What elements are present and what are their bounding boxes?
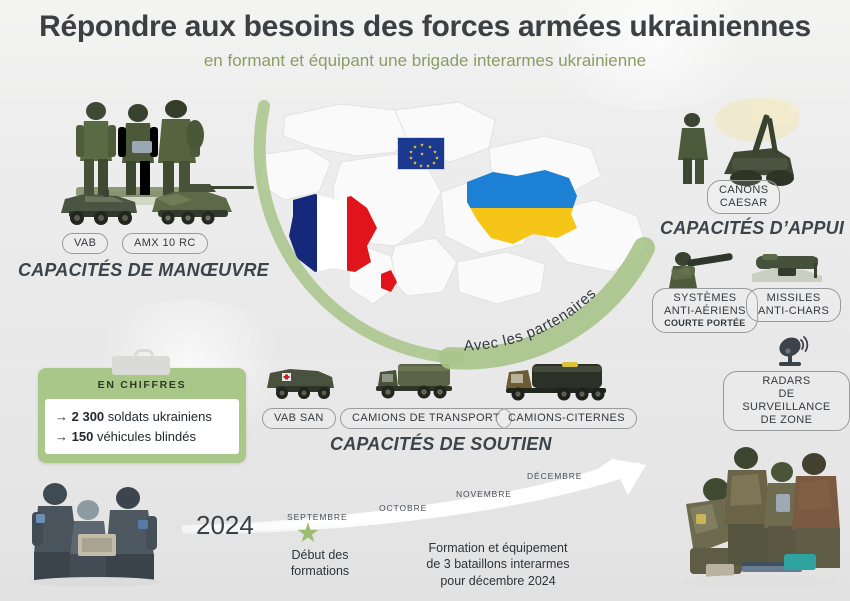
chiffres-row: → 150 véhicules blindés xyxy=(55,427,229,447)
label-systemes-anti-aeriens: SYSTÈMES ANTI-AÉRIENS COURTE PORTÉE xyxy=(652,288,758,333)
tank-icon xyxy=(148,178,256,228)
heading-capacites-appui: CAPACITÉS D’APPUI xyxy=(660,218,844,239)
label-aa-line3: COURTE PORTÉE xyxy=(664,318,746,329)
antitank-missile-icon xyxy=(748,248,833,290)
timeline-caption-start: Début des formations xyxy=(265,548,375,579)
label-canons-caesar: CANONS CAESAR xyxy=(707,180,780,214)
label-at-line2: ANTI-CHARS xyxy=(758,305,829,317)
chiffres-value: 2 300 xyxy=(72,409,105,424)
timeline-month-septembre: SEPTEMBRE xyxy=(287,512,348,522)
page-subtitle: en formant et équipant une brigade inter… xyxy=(0,51,850,71)
page-title: Répondre aux besoins des forces armées u… xyxy=(0,10,850,43)
poster-header: Répondre aux besoins des forces armées u… xyxy=(0,10,850,71)
ambulance-vehicle-icon xyxy=(262,362,340,402)
clipboard-clip-icon xyxy=(112,356,170,375)
timeline-month-decembre: DÉCEMBRE xyxy=(527,471,582,481)
timeline-section: 2024 SEPTEMBRE OCTOBRE NOVEMBRE DÉCEMBRE… xyxy=(0,455,850,601)
europe-landmass-svg xyxy=(245,96,655,356)
chiffres-row: → 2 300 soldats ukrainiens xyxy=(55,407,229,427)
chiffres-value: 150 xyxy=(72,429,94,444)
label-canons-caesar-line2: CAESAR xyxy=(720,197,768,209)
label-vab-san: VAB SAN xyxy=(262,408,336,429)
manpads-icon xyxy=(663,248,738,290)
timeline-caption-main-line2: de 3 bataillons interarmes xyxy=(408,556,588,572)
label-camions-citernes: CAMIONS-CITERNES xyxy=(496,408,637,429)
en-chiffres-heading: EN CHIFFRES xyxy=(45,375,239,399)
en-chiffres-card: EN CHIFFRES → 2 300 soldats ukrainiens →… xyxy=(38,368,246,463)
label-vab: VAB xyxy=(62,233,108,254)
chiffres-text: véhicules blindés xyxy=(97,429,196,444)
timeline-caption-main: Formation et équipement de 3 bataillons … xyxy=(408,540,588,589)
timeline-caption-start-line1: Début des xyxy=(265,548,375,564)
label-at-line1: MISSILES xyxy=(767,292,821,304)
heading-capacites-soutien: CAPACITÉS DE SOUTIEN xyxy=(330,434,552,455)
arrow-icon: → xyxy=(55,429,68,444)
label-camions-transport: CAMIONS DE TRANSPORT xyxy=(340,408,512,429)
radar-dish-icon xyxy=(768,334,814,372)
tanker-truck-icon xyxy=(502,358,612,402)
europe-map xyxy=(245,96,655,356)
european-union-flag xyxy=(397,137,445,170)
timeline-month-novembre: NOVEMBRE xyxy=(456,489,512,499)
label-radar-line2: DE SURVEILLANCE xyxy=(742,388,830,413)
infographic-poster: Répondre aux besoins des forces armées u… xyxy=(0,0,850,601)
label-radar-line1: RADARS xyxy=(762,375,810,387)
timeline-year: 2024 xyxy=(196,510,254,541)
chiffres-text: soldats ukrainiens xyxy=(108,409,212,424)
timeline-month-octobre: OCTOBRE xyxy=(379,503,427,513)
label-aa-line1: SYSTÈMES xyxy=(673,292,736,304)
arrow-icon: → xyxy=(55,409,68,424)
timeline-caption-main-line3: pour décembre 2024 xyxy=(408,573,588,589)
armored-vehicle-icon xyxy=(55,185,143,227)
soldier-figure xyxy=(76,102,116,195)
timeline-caption-main-line1: Formation et équipement xyxy=(408,540,588,556)
label-radar-line3: DE ZONE xyxy=(761,414,813,426)
label-amx-10-rc: AMX 10 RC xyxy=(122,233,208,254)
timeline-caption-start-line2: formations xyxy=(265,564,375,580)
transport-truck-icon xyxy=(372,358,458,402)
soldier-figure xyxy=(678,113,708,184)
label-aa-line2: ANTI-AÉRIENS xyxy=(664,305,746,317)
label-canons-caesar-line1: CANONS xyxy=(719,184,768,196)
label-missiles-anti-chars: MISSILES ANTI-CHARS xyxy=(746,288,841,322)
heading-capacites-manoeuvre: CAPACITÉS DE MANŒUVRE xyxy=(18,260,269,281)
label-radars-surveillance: RADARS DE SURVEILLANCE DE ZONE xyxy=(723,371,850,431)
